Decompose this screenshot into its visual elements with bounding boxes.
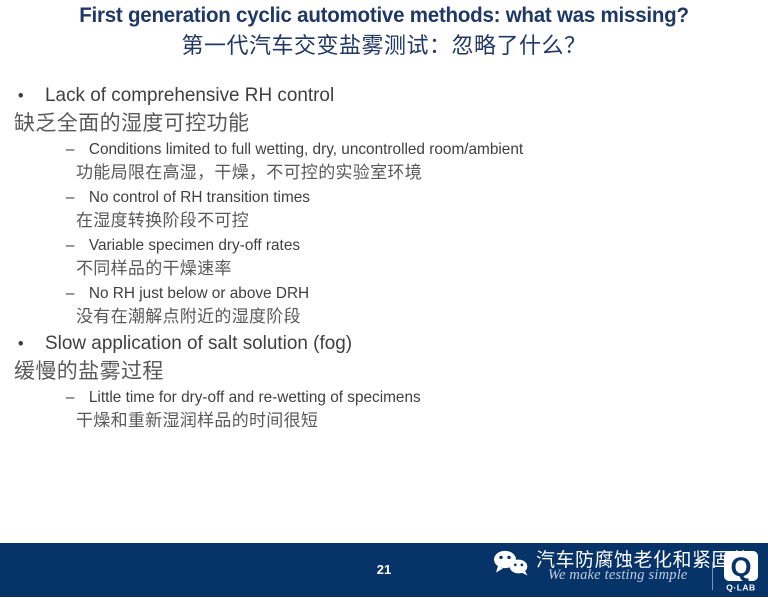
dash-icon: – — [66, 138, 75, 161]
list-item-label-zh: 在湿度转换阶段不可控 — [14, 209, 758, 234]
list-item: • Lack of comprehensive RH control — [14, 82, 736, 109]
list-item-label-zh: 缓慢的盐雾过程 — [14, 357, 758, 386]
list-item-label-en: Slow application of salt solution (fog) — [45, 332, 352, 354]
page-title-chinese: 第一代汽车交变盐雾测试：忽略了什么？ — [0, 32, 768, 62]
list-item-label-en: No RH just below or above DRH — [89, 285, 309, 302]
list-item: • Slow application of salt solution (fog… — [14, 330, 736, 357]
slide: First generation cyclic automotive metho… — [0, 0, 768, 597]
list-item: – No control of RH transition times — [14, 186, 728, 209]
list-item-label-en: Conditions limited to full wetting, dry,… — [89, 141, 523, 158]
title-block: First generation cyclic automotive metho… — [0, 2, 768, 62]
list-item-label-zh: 干燥和重新湿润样品的时间很短 — [14, 409, 758, 434]
bullet-icon: • — [18, 82, 24, 109]
svg-text:Q·LAB: Q·LAB — [726, 583, 755, 593]
dash-icon: – — [66, 186, 75, 209]
page-title-english: First generation cyclic automotive metho… — [17, 2, 750, 28]
dash-icon: – — [66, 386, 75, 409]
list-item-label-zh: 不同样品的干燥速率 — [14, 257, 758, 282]
wechat-icon — [492, 550, 532, 576]
list-item: – Variable specimen dry-off rates — [14, 234, 728, 257]
list-item-label-zh: 缺乏全面的湿度可控功能 — [14, 109, 758, 138]
list-item: – No RH just below or above DRH — [14, 282, 728, 305]
dash-icon: – — [66, 282, 75, 305]
list-item-label-zh: 没有在潮解点附近的湿度阶段 — [14, 305, 758, 330]
list-item-label-en: No control of RH transition times — [89, 189, 310, 206]
list-item: – Little time for dry-off and re-wetting… — [14, 386, 728, 409]
list-item-label-zh: 功能局限在高湿，干燥，不可控的实验室环境 — [14, 161, 758, 186]
tagline: We make testing simple — [548, 566, 688, 584]
list-item-label-en: Lack of comprehensive RH control — [45, 84, 334, 106]
list-item: – Conditions limited to full wetting, dr… — [14, 138, 728, 161]
dash-icon: – — [66, 234, 75, 257]
list-item-label-en: Little time for dry-off and re-wetting o… — [89, 389, 421, 406]
list-item-label-en: Variable specimen dry-off rates — [89, 237, 300, 254]
body-content: • Lack of comprehensive RH control 缺乏全面的… — [14, 82, 758, 434]
bullet-icon: • — [18, 330, 24, 357]
qlab-logo: Q Q·LAB — [723, 551, 763, 593]
divider — [712, 562, 713, 590]
svg-text:Q: Q — [730, 552, 751, 582]
